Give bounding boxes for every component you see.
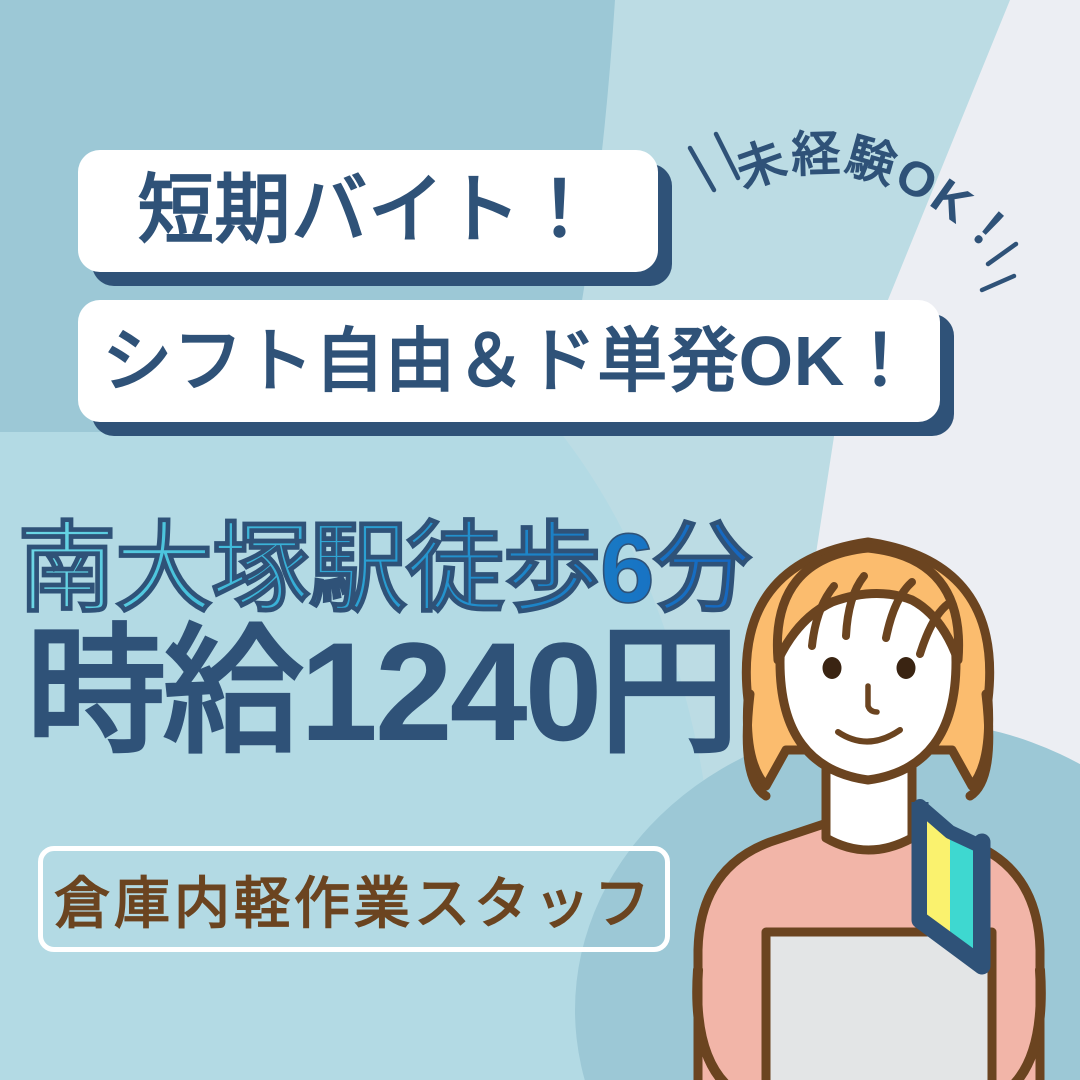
decoration-slashes-left [690, 134, 738, 190]
inexperienced-ok-label: 未経験OK！ [729, 127, 1025, 267]
job-title-box: 倉庫内軽作業スタッフ [38, 846, 670, 952]
hourly-wage-label: 時給1240円 [26, 622, 736, 762]
eye-right [897, 657, 916, 679]
job-ad-flyer: 短期バイト！ シフト自由＆ド単発OK！ 未経験OK！ [0, 0, 1080, 1080]
station-access-label: 南大塚駅徒歩6分 [18, 513, 753, 623]
inexperienced-ok-callout: 未経験OK！ [676, 104, 1036, 314]
station-access-line: 南大塚駅徒歩6分 [18, 508, 718, 628]
badge-shift-free: シフト自由＆ド単発OK！ [78, 300, 940, 422]
job-title-label: 倉庫内軽作業スタッフ [54, 859, 654, 940]
badge-shift-free-label: シフト自由＆ド単発OK！ [102, 326, 915, 396]
badge-face: 短期バイト！ [78, 150, 658, 272]
eye-left [823, 657, 842, 679]
badge-short-term-label: 短期バイト！ [138, 173, 599, 249]
badge-short-term: 短期バイト！ [78, 150, 658, 272]
badge-face: シフト自由＆ド単発OK！ [78, 300, 940, 422]
